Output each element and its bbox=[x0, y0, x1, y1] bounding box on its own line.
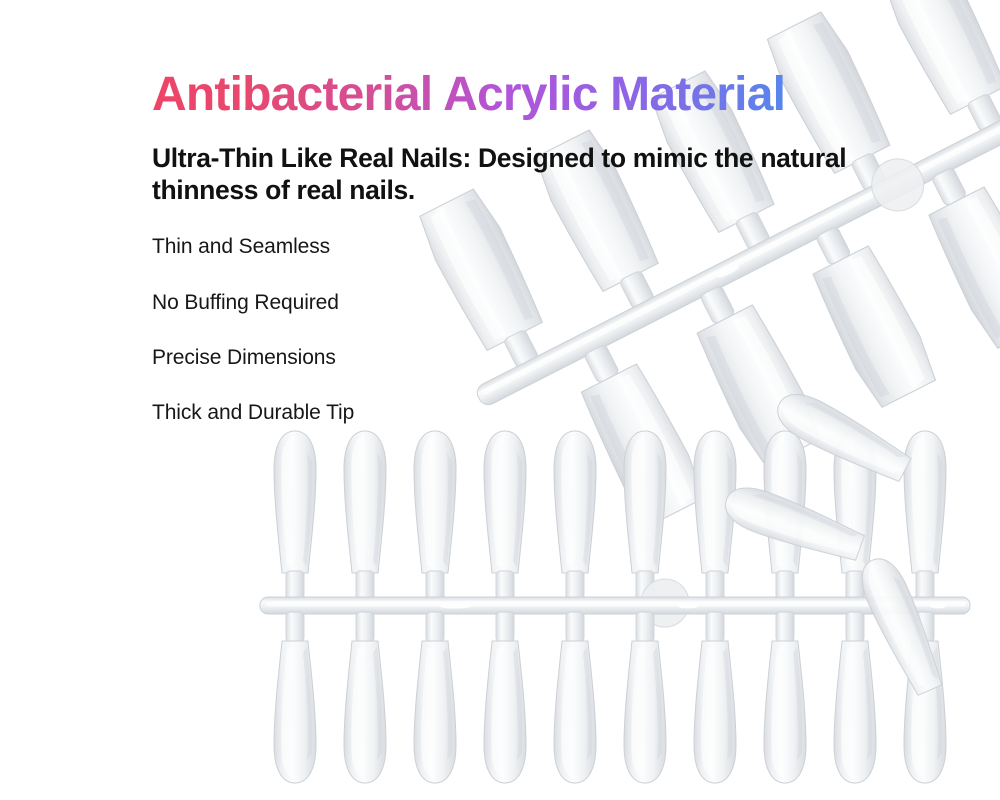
feature-item-thin-and-seamless: Thin and Seamless bbox=[152, 235, 330, 259]
page-title: Antibacterial Acrylic Material bbox=[152, 70, 912, 120]
subtitle-text: Ultra-Thin Like Real Nails: Designed to … bbox=[152, 143, 882, 207]
text-layer: Antibacterial Acrylic Material Ultra-Thi… bbox=[0, 0, 1000, 800]
feature-item-thick-and-durable-tip: Thick and Durable Tip bbox=[152, 401, 354, 425]
feature-item-precise-dimensions: Precise Dimensions bbox=[152, 346, 336, 370]
feature-item-no-buffing-required: No Buffing Required bbox=[152, 291, 339, 315]
product-marketing-image: Antibacterial Acrylic Material Ultra-Thi… bbox=[0, 0, 1000, 800]
